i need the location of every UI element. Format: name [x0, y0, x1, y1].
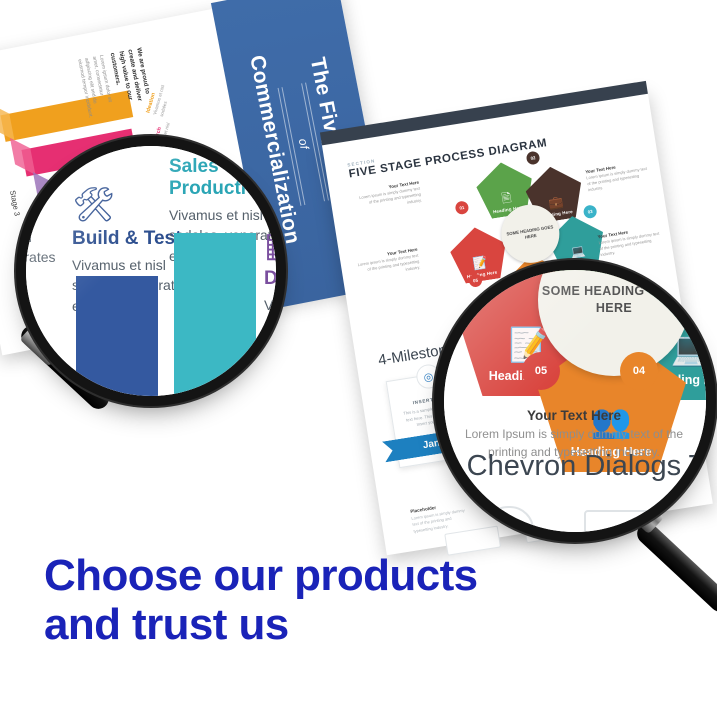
slide-header-bar [320, 81, 648, 145]
magnifier-right-lens[interactable]: Here text of industry. 📝 Heading Here 💻 … [444, 270, 706, 532]
callout-05: Your Text Here Lorem ipsum is simply dum… [354, 247, 421, 281]
notepad-icon: 📝 [472, 256, 489, 270]
callout-01: Your Text Here Lorem ipsum is simply dum… [355, 180, 422, 214]
documents-icon: 🖹 [501, 191, 512, 204]
magnified-badge-05: 05 [522, 352, 560, 390]
magnified-subtitle: es Chevron Dialogs Timeline Te [444, 450, 706, 483]
magnified-bar-sales-production [174, 233, 256, 396]
poster-canvas: Stage 1 Ideation Vivamus et nisl sodales… [0, 0, 717, 717]
headline-line-1: Choose our products [44, 551, 664, 600]
magnified-bottom-shape-1[interactable] [484, 506, 534, 532]
stage-3-label: Stage 3 [8, 190, 22, 217]
magnified-bar-0 [26, 324, 38, 396]
magnified-bar-build-test [76, 276, 158, 396]
number-badge-02: 02 [526, 151, 541, 166]
magnified-badge-04: 04 [620, 352, 658, 390]
headline: Choose our products and trust us [44, 551, 664, 650]
target-icon: ◎ [415, 363, 442, 390]
layout-grid-icon: ▦ [264, 228, 276, 262]
magnified-pentagon-diagram: Here text of industry. 📝 Heading Here 💻 … [444, 270, 706, 532]
magnified-bar-chart: ▦ Design Vivamus et nisl sodales, venera… [26, 146, 276, 396]
stage-2-label: Stage 2 [0, 169, 2, 196]
number-badge-01: 01 [455, 200, 470, 215]
magnifier-left-lens[interactable]: ▦ Design Vivamus et nisl sodales, venera… [26, 146, 276, 396]
magnified-column-0: ▦ Design Vivamus et nisl sodales, venera… [26, 160, 58, 288]
grid-icon: ▦ [26, 160, 58, 194]
briefcase-icon: 💼 [547, 195, 564, 209]
magnified-bottom-shape-2[interactable] [584, 510, 658, 532]
slide-lead-paragraph: We are proud to create and deliver high … [74, 47, 153, 119]
magnified-bar-design [268, 326, 276, 396]
monitor-icon: 💻 [569, 245, 586, 259]
number-badge-03: 03 [583, 204, 598, 219]
headline-line-2: and trust us [44, 600, 664, 649]
